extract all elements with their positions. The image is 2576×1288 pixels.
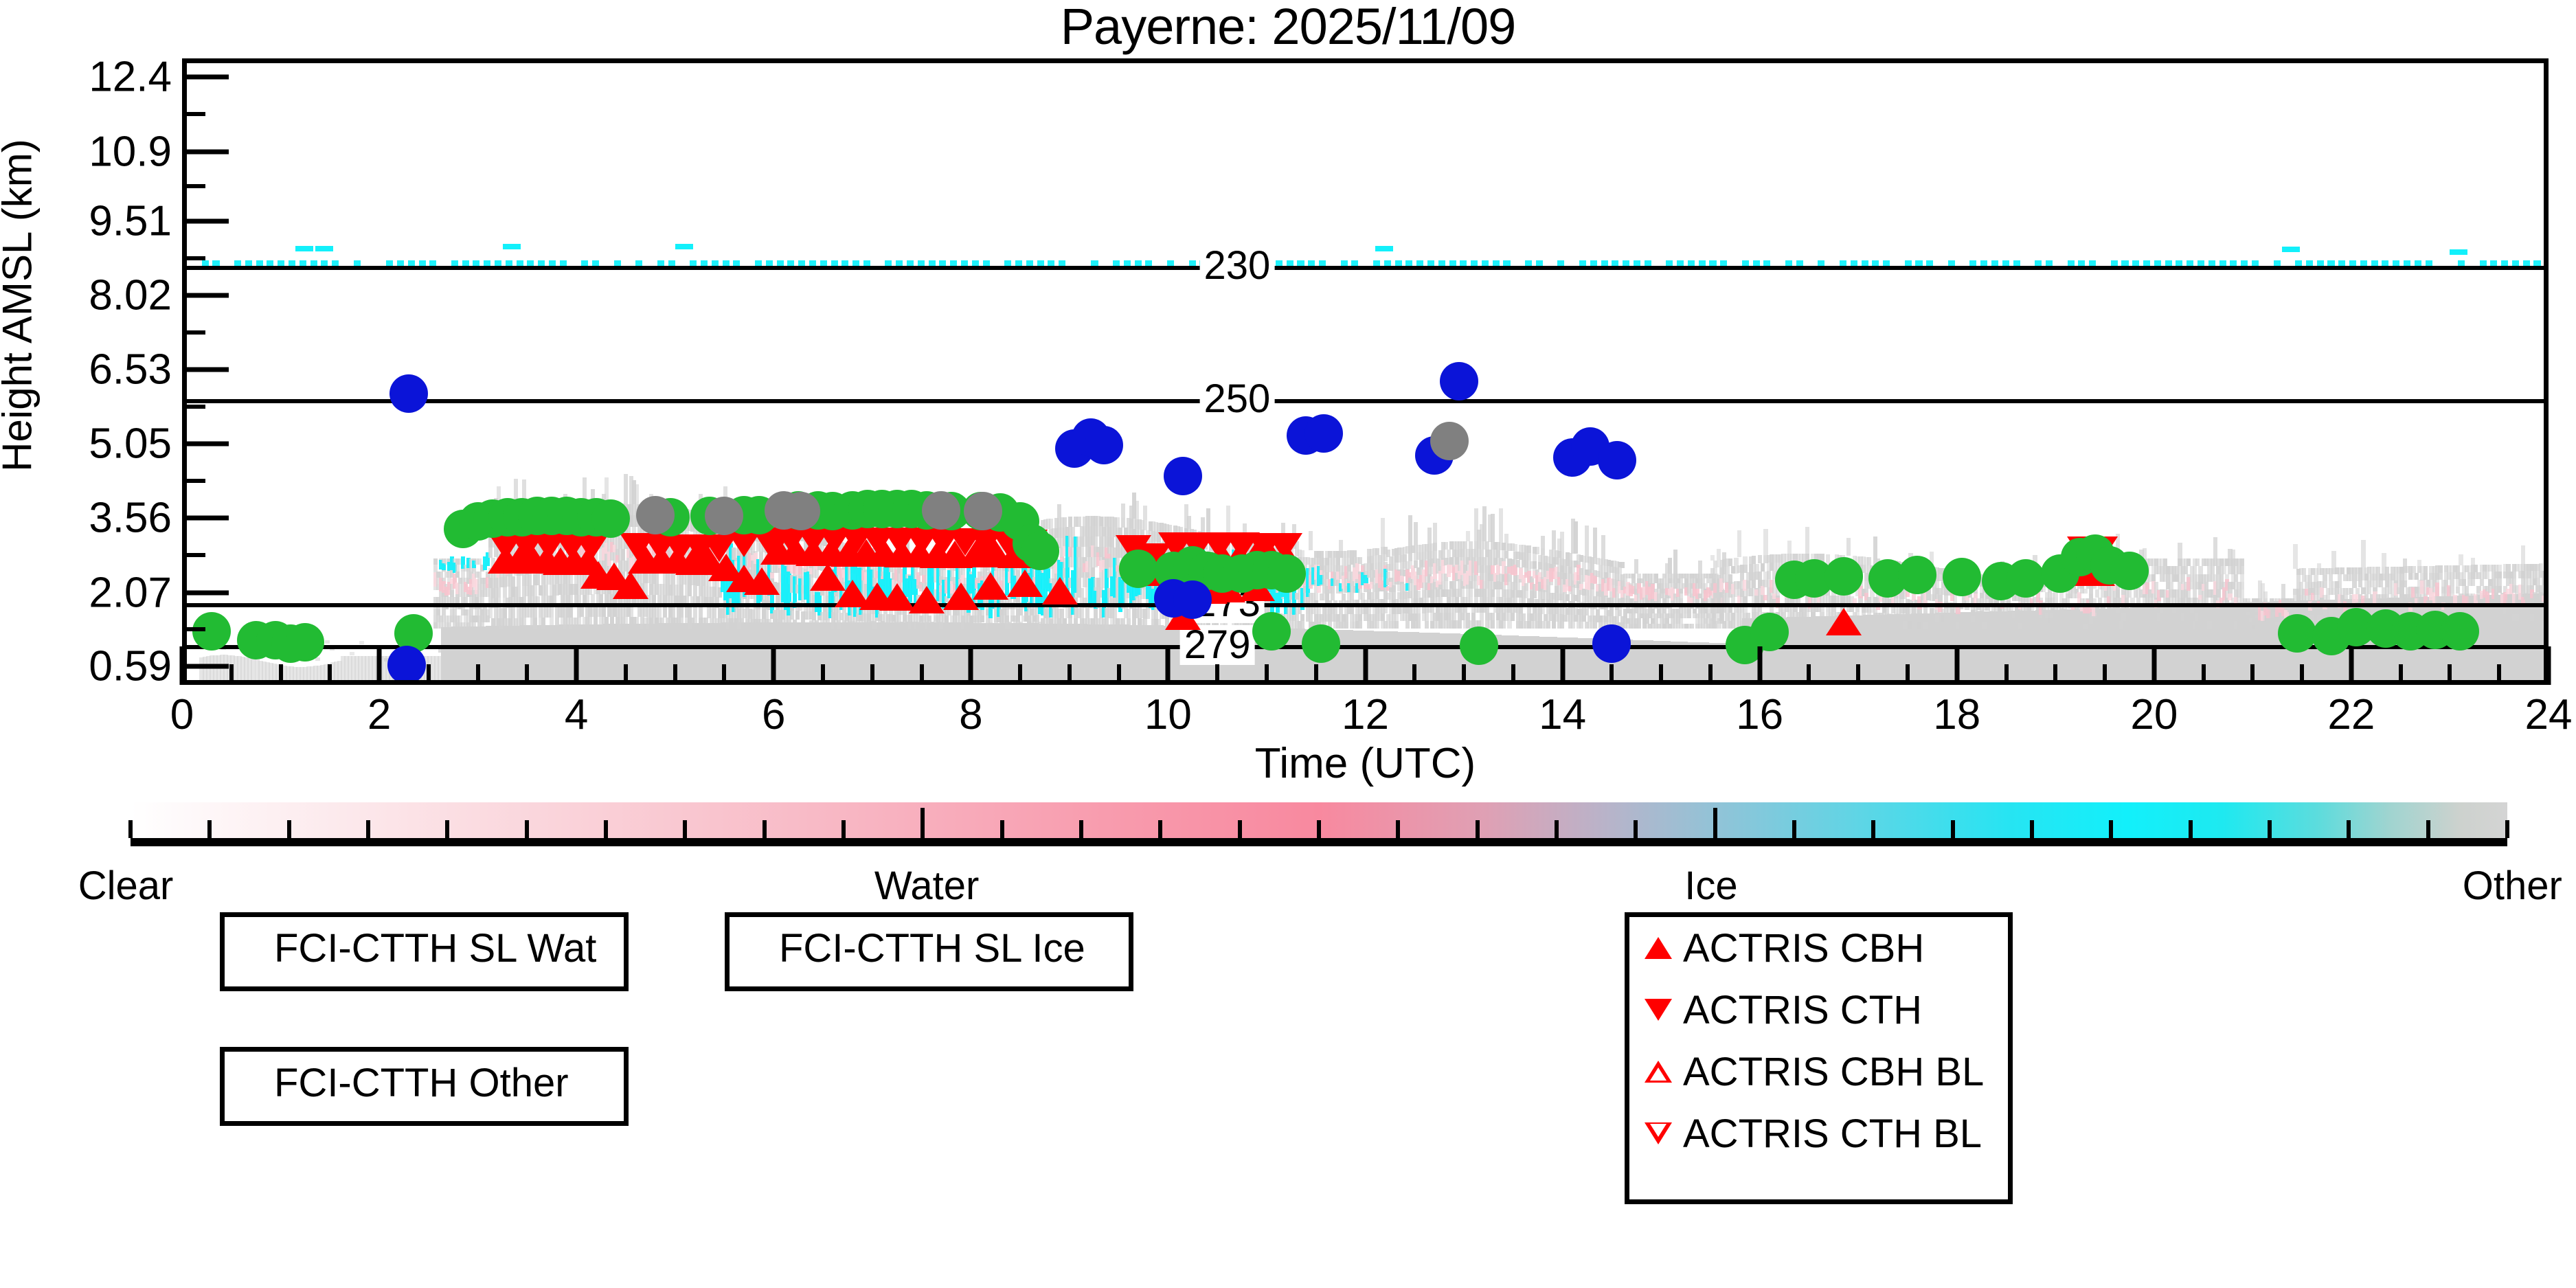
y-tick-label: 10.9 <box>89 127 172 176</box>
y-tick-label: 5.05 <box>89 420 172 468</box>
y-tick-label: 3.56 <box>89 494 172 543</box>
y-tick-label: 2.07 <box>89 568 172 617</box>
plot-area: 230250273279 <box>182 58 2549 685</box>
y-tick-label: 9.51 <box>89 196 172 245</box>
page-title: Payerne: 2025/11/09 <box>0 0 2576 56</box>
y-tick-label: 0.59 <box>89 642 172 691</box>
y-axis-tick-labels: 12.410.99.518.026.535.053.562.070.59 <box>0 58 172 685</box>
y-tick-label: 12.4 <box>89 52 172 101</box>
y-tick-label: 8.02 <box>89 271 172 320</box>
y-tick-label: 6.53 <box>89 346 172 394</box>
